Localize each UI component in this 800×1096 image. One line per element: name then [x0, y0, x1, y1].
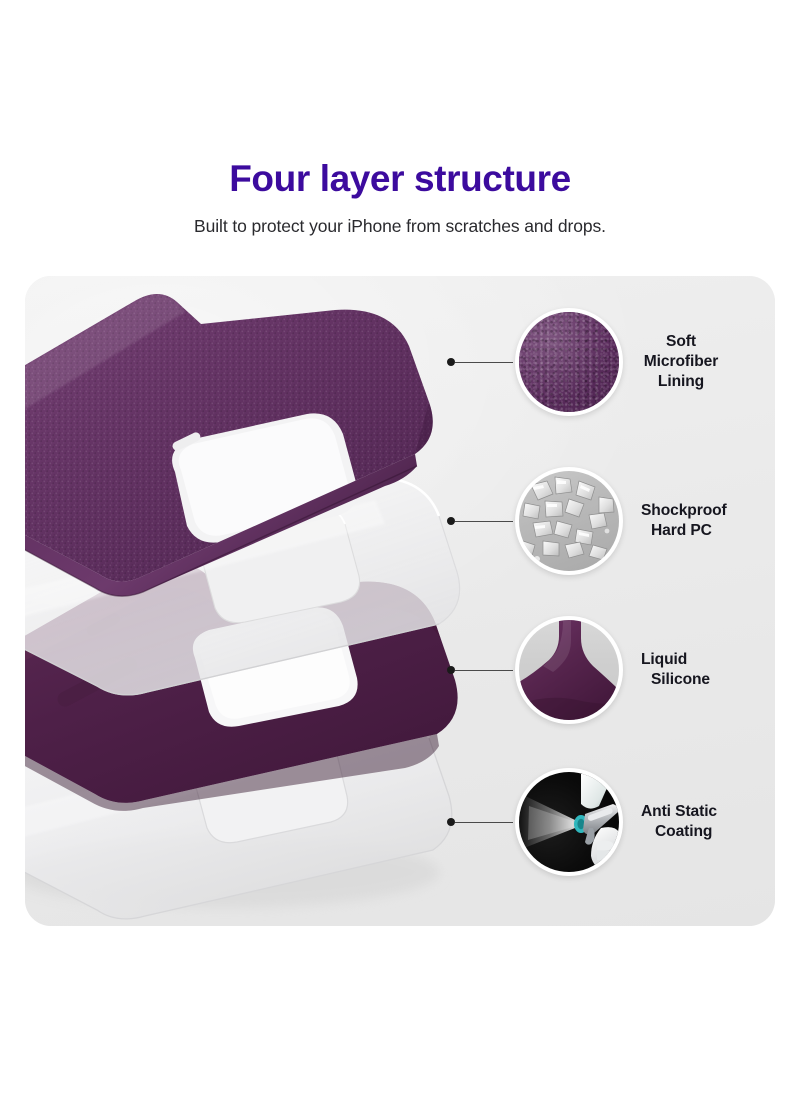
- callout-liquid-silicone[interactable]: Liquid Silicone: [415, 602, 775, 738]
- leader-line-3: [415, 664, 515, 676]
- silicone-pour-svg: [519, 620, 619, 720]
- callout-bubble-2[interactable]: [515, 467, 623, 575]
- callout-label-3: Liquid Silicone: [623, 650, 775, 690]
- liquid-silicone-pour-image: [519, 620, 619, 720]
- callout-label-3-line-2: Silicone: [641, 670, 775, 690]
- callout-list: Soft Microfiber Lining: [415, 276, 775, 926]
- page-header: Four layer structure Built to protect yo…: [0, 0, 800, 237]
- callout-label-1-line-1: Soft: [631, 332, 731, 352]
- hard-pc-granules-image: [519, 471, 619, 571]
- callout-bubble-1[interactable]: [515, 308, 623, 416]
- callout-label-2: Shockproof Hard PC: [623, 501, 775, 541]
- callout-label-4-line-2: Coating: [641, 822, 775, 842]
- leader-dot-icon: [447, 358, 455, 366]
- spray-gun-svg: [519, 772, 619, 872]
- callout-anti-static-coating[interactable]: Anti Static Coating: [415, 754, 775, 890]
- leader-line-icon: [455, 822, 513, 823]
- leader-dot-icon: [447, 517, 455, 525]
- callout-bubble-3[interactable]: [515, 616, 623, 724]
- page-title: Four layer structure: [0, 0, 800, 199]
- callout-label-2-line-1: Shockproof: [641, 501, 775, 521]
- callout-label-1-line-3: Lining: [631, 372, 731, 392]
- callout-label-4: Anti Static Coating: [623, 802, 775, 842]
- leader-line-icon: [455, 362, 513, 363]
- callout-label-2-line-2: Hard PC: [641, 521, 775, 541]
- leader-dot-icon: [447, 818, 455, 826]
- leader-line-icon: [455, 521, 513, 522]
- callout-bubble-4[interactable]: [515, 768, 623, 876]
- callout-label-3-line-1: Liquid: [641, 650, 775, 670]
- callout-label-1-line-2: Microfiber: [631, 352, 731, 372]
- pc-granules-svg: [519, 471, 619, 571]
- leader-line-1: [415, 356, 515, 368]
- leader-line-4: [415, 816, 515, 828]
- callout-shockproof-hard-pc[interactable]: Shockproof Hard PC: [415, 453, 775, 589]
- leader-line-icon: [455, 670, 513, 671]
- page-subtitle: Built to protect your iPhone from scratc…: [0, 199, 800, 237]
- leader-line-2: [415, 515, 515, 527]
- spray-gun-coating-image: [519, 772, 619, 872]
- leader-dot-icon: [447, 666, 455, 674]
- microfiber-texture-image: [519, 312, 619, 412]
- callout-label-4-line-1: Anti Static: [641, 802, 775, 822]
- feature-panel: Soft Microfiber Lining: [25, 276, 775, 926]
- callout-label-1: Soft Microfiber Lining: [623, 332, 775, 391]
- callout-soft-microfiber-lining[interactable]: Soft Microfiber Lining: [415, 294, 775, 430]
